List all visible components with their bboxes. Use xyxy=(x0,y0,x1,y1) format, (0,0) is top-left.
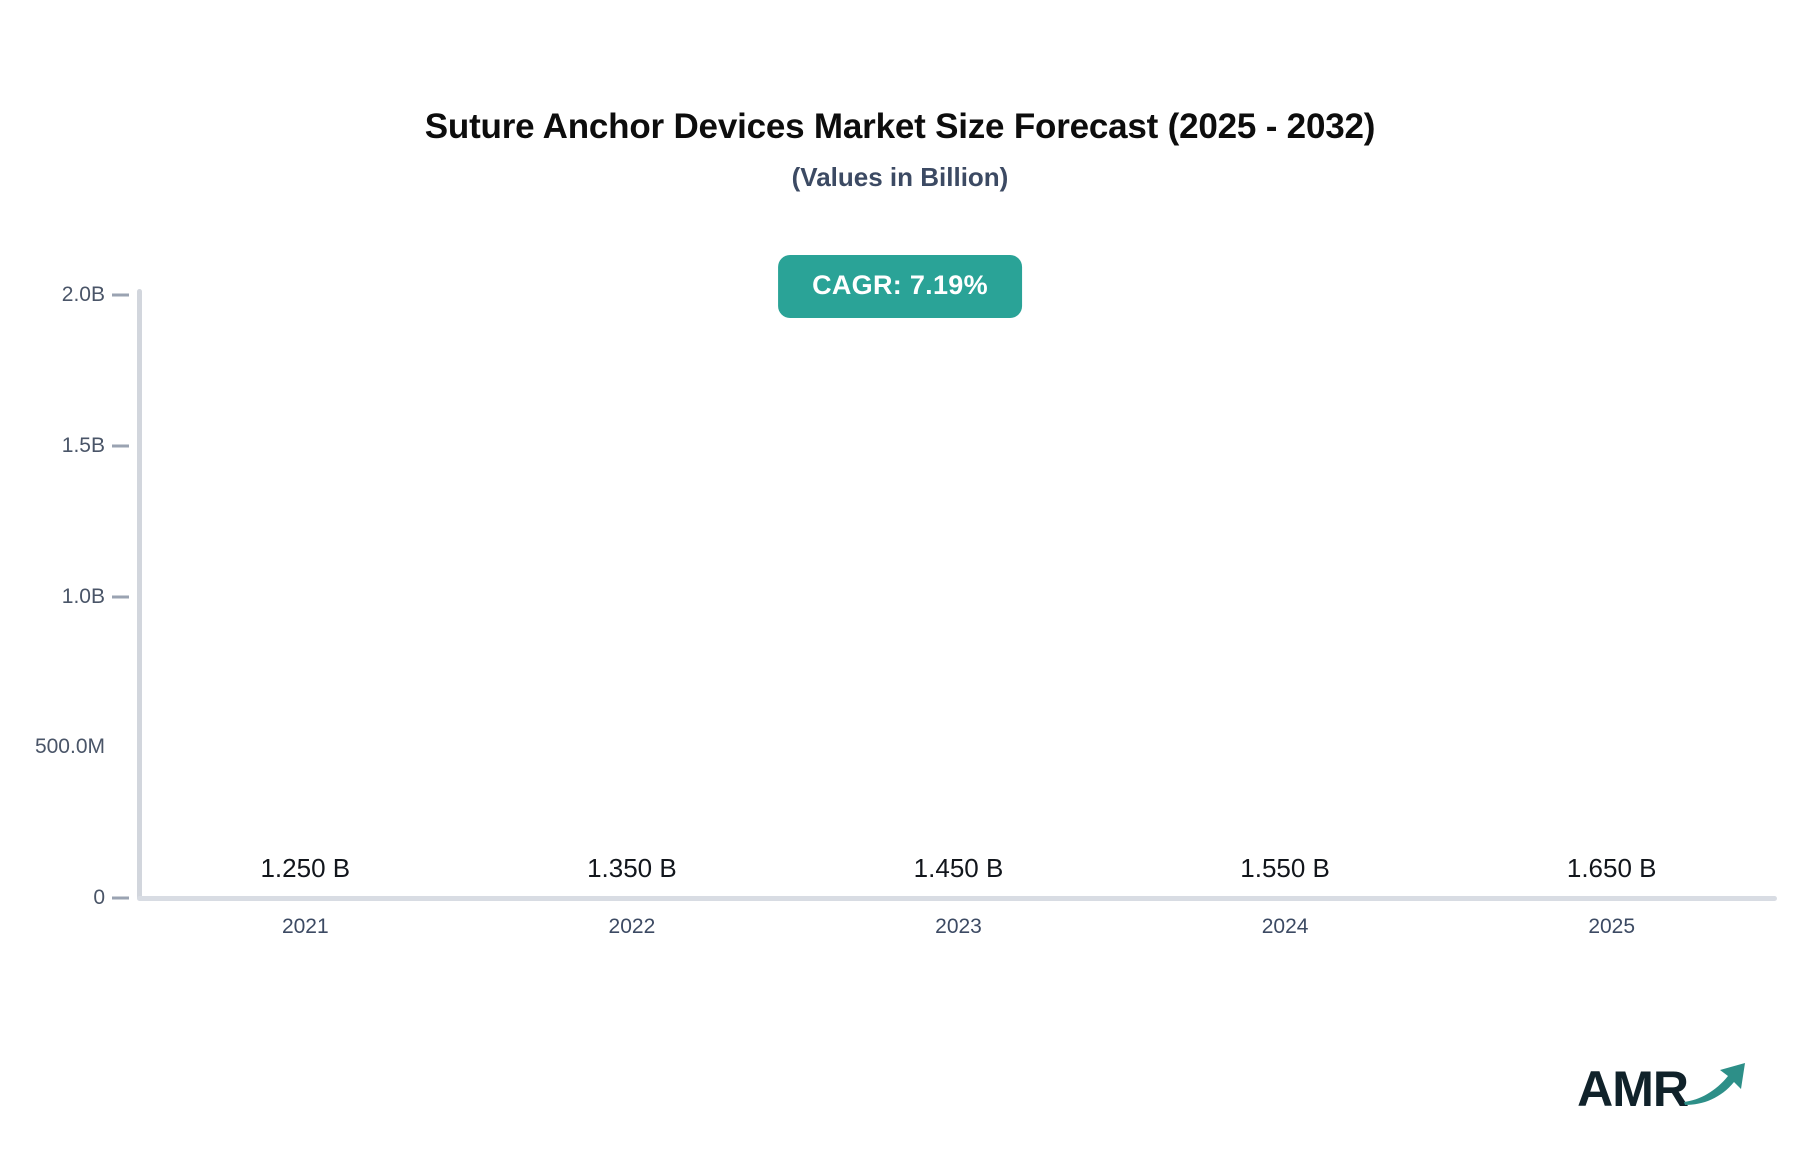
x-axis-tick-label: 2021 xyxy=(225,915,385,939)
amr-logo: AMR xyxy=(1577,1055,1748,1114)
x-axis-tick-label: 2022 xyxy=(552,915,712,939)
y-axis-tick-label: 0 xyxy=(0,886,105,910)
y-axis-tick-label: 1.0B xyxy=(0,585,105,609)
bar-value-label: 1.250 B xyxy=(163,853,448,884)
growth-arrow-icon xyxy=(1682,1055,1748,1112)
y-axis-tick-label: 500.0M xyxy=(0,735,105,759)
y-axis-tick-label: 2.0B xyxy=(0,283,105,307)
x-axis-tick-label: 2025 xyxy=(1532,915,1692,939)
y-axis-tick-mark xyxy=(112,897,129,900)
x-axis-line xyxy=(137,896,1777,901)
x-axis-tick-label: 2023 xyxy=(879,915,1039,939)
chart-card: Suture Anchor Devices Market Size Foreca… xyxy=(0,0,1800,1156)
y-axis-tick-mark xyxy=(112,444,129,447)
y-axis-tick-mark xyxy=(112,294,129,297)
y-axis-line xyxy=(137,289,142,900)
y-axis-tick-mark xyxy=(112,595,129,598)
bar-value-label: 1.650 B xyxy=(1469,853,1754,884)
x-axis-tick-label: 2024 xyxy=(1205,915,1365,939)
y-axis-tick-label: 1.5B xyxy=(0,434,105,458)
bar-value-label: 1.350 B xyxy=(489,853,774,884)
bar-value-label: 1.450 B xyxy=(816,853,1101,884)
plot-area: 0500.0M1.0B1.5B2.0B 1.250 B1.350 B1.450 … xyxy=(0,0,1800,1156)
bar-value-label: 1.550 B xyxy=(1143,853,1428,884)
logo-text: AMR xyxy=(1577,1064,1688,1114)
